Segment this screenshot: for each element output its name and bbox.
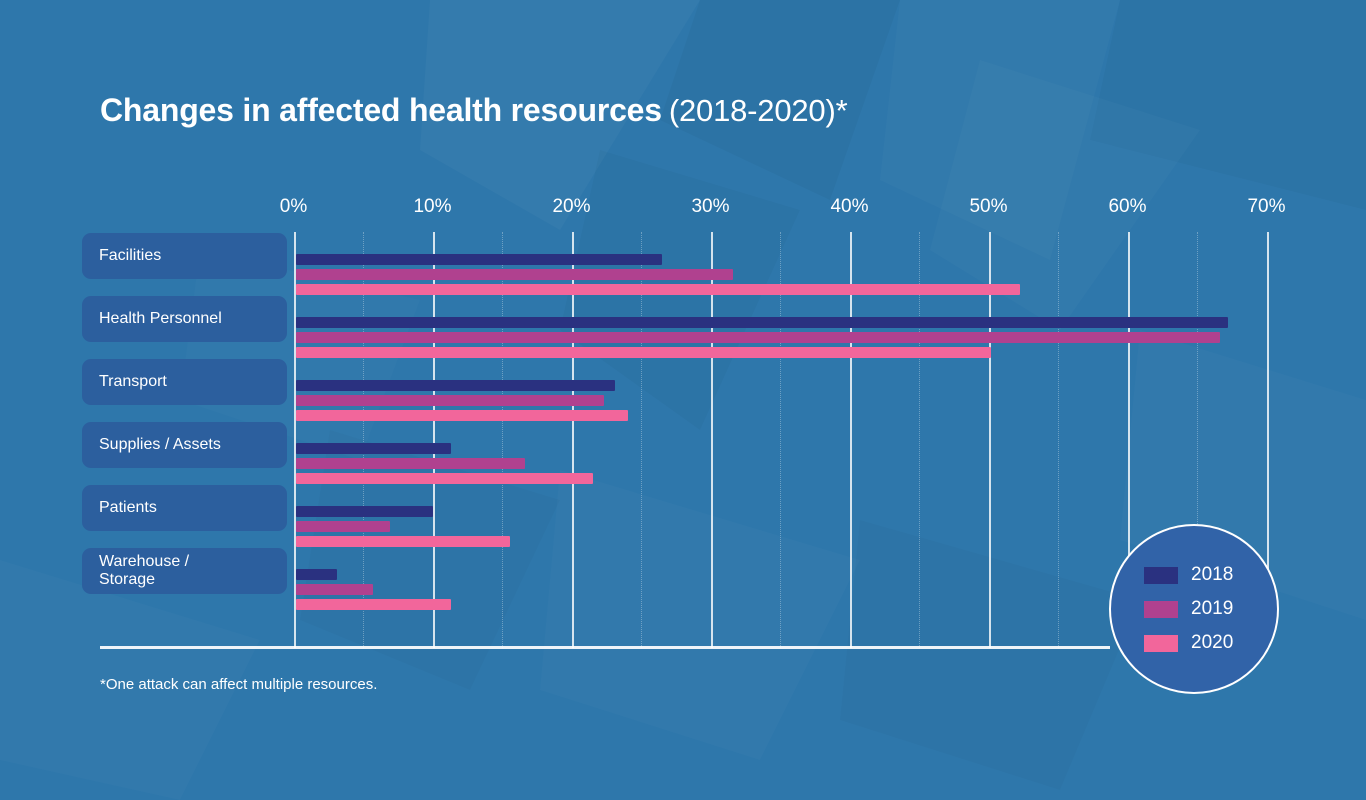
legend-label-2018: 2018 xyxy=(1191,564,1233,586)
x-tick-label: 20% xyxy=(552,196,590,218)
x-tick-label: 10% xyxy=(413,196,451,218)
bar xyxy=(296,317,1229,328)
page-title: Changes in affected health resources(201… xyxy=(100,92,847,129)
x-tick-label: 40% xyxy=(830,196,868,218)
category-label-text: Facilities xyxy=(99,247,161,265)
bar xyxy=(296,458,525,469)
bar xyxy=(296,536,510,547)
bar xyxy=(296,443,452,454)
chart-footnote: *One attack can affect multiple resource… xyxy=(100,676,377,693)
x-tick-label: 60% xyxy=(1108,196,1146,218)
category-label-text: Supplies / Assets xyxy=(99,436,221,454)
bar xyxy=(296,395,605,406)
category-label-warehouse-storage: Warehouse / Storage xyxy=(82,548,287,594)
bar xyxy=(296,332,1220,343)
legend-label-2020: 2020 xyxy=(1191,632,1233,654)
category-label-transport: Transport xyxy=(82,359,287,405)
x-tick-label: 70% xyxy=(1247,196,1285,218)
x-tick-label: 0% xyxy=(280,196,307,218)
bar xyxy=(296,269,734,280)
category-label-health-personnel: Health Personnel xyxy=(82,296,287,342)
chart-legend: 201820192020 xyxy=(1109,524,1279,694)
category-label-facilities: Facilities xyxy=(82,233,287,279)
legend-item-2020[interactable]: 2020 xyxy=(1144,632,1233,654)
gridline-minor xyxy=(1058,232,1060,648)
bar xyxy=(296,599,452,610)
category-label-text: Transport xyxy=(99,373,167,391)
title-main: Changes in affected health resources xyxy=(100,92,662,128)
x-tick-label: 30% xyxy=(691,196,729,218)
category-label-supplies-assets: Supplies / Assets xyxy=(82,422,287,468)
bar xyxy=(296,506,434,517)
bar xyxy=(296,380,616,391)
bar xyxy=(296,410,628,421)
bar xyxy=(296,584,374,595)
category-label-text: Warehouse / Storage xyxy=(99,553,189,589)
bar xyxy=(296,347,991,358)
legend-swatch-2018 xyxy=(1144,567,1178,584)
bar xyxy=(296,473,593,484)
bar xyxy=(296,521,391,532)
x-axis-line xyxy=(100,646,1110,649)
category-label-text: Patients xyxy=(99,499,157,517)
legend-swatch-2019 xyxy=(1144,601,1178,618)
bar xyxy=(296,284,1020,295)
legend-label-2019: 2019 xyxy=(1191,598,1233,620)
legend-item-2019[interactable]: 2019 xyxy=(1144,598,1233,620)
chart-canvas: Changes in affected health resources(201… xyxy=(0,0,1366,800)
legend-item-2018[interactable]: 2018 xyxy=(1144,564,1233,586)
category-label-text: Health Personnel xyxy=(99,310,222,328)
bar xyxy=(296,254,663,265)
legend-swatch-2020 xyxy=(1144,635,1178,652)
title-subtitle: (2018-2020)* xyxy=(669,93,848,128)
category-label-patients: Patients xyxy=(82,485,287,531)
x-tick-label: 50% xyxy=(969,196,1007,218)
bar xyxy=(296,569,338,580)
